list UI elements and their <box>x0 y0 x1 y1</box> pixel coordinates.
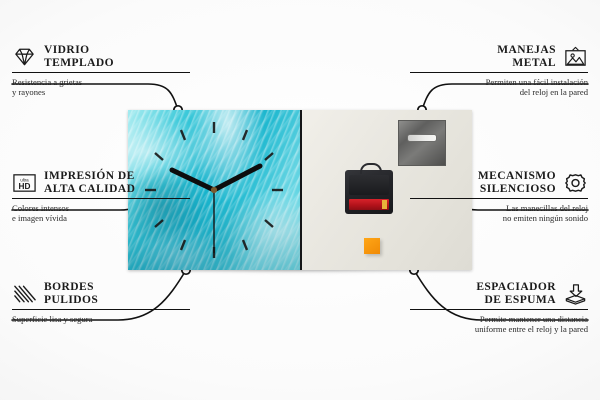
mechanism-hook <box>360 163 382 174</box>
feature-espaciador-espuma: ESPACIADOR DE ESPUMA Permite mantener un… <box>410 281 588 335</box>
feature-header: ultra HD IMPRESIÓN DE ALTA CALIDAD <box>12 170 190 195</box>
svg-text:HD: HD <box>19 181 31 190</box>
tick-11 <box>181 130 185 140</box>
tick-5 <box>243 240 247 250</box>
diamond-icon <box>12 46 37 68</box>
foam-spacer <box>364 238 380 254</box>
feature-mecanismo-silencioso: MECANISMO SILENCIOSO Las manecillas del … <box>410 170 588 224</box>
tick-2 <box>265 153 273 160</box>
feature-title: VIDRIO TEMPLADO <box>44 44 114 69</box>
feature-rule <box>410 309 588 310</box>
hanger-slot <box>407 134 437 142</box>
feature-header: VIDRIO TEMPLADO <box>12 44 190 69</box>
feature-description: Superficie lisa y segura <box>12 314 190 324</box>
feature-description: Permiten una fácil instalación del reloj… <box>410 77 588 98</box>
feature-header: BORDES PULIDOS <box>12 281 190 306</box>
feature-header: MECANISMO SILENCIOSO <box>410 170 588 195</box>
ultra-hd-icon: ultra HD <box>12 172 37 194</box>
mechanism-housing <box>349 175 389 195</box>
feature-description: Las manecillas del reloj no emiten ningú… <box>410 203 588 224</box>
arrow-onto-pad-icon <box>563 283 588 305</box>
metal-hanger-plate <box>398 120 446 166</box>
feature-header: ESPACIADOR DE ESPUMA <box>410 281 588 306</box>
feature-rule <box>410 72 588 73</box>
feature-description: Colores intensos e imagen vívida <box>12 203 190 224</box>
feature-title: MANEJAS METAL <box>497 44 556 69</box>
feature-title: MECANISMO SILENCIOSO <box>478 170 556 195</box>
feature-bordes-pulidos: BORDES PULIDOS Superficie lisa y segura <box>12 281 190 324</box>
feature-rule <box>12 72 190 73</box>
clock-center-cap <box>211 187 217 193</box>
feature-header: MANEJAS METAL <box>410 44 588 69</box>
feature-manejas-metal: MANEJAS METAL Permiten una fácil instala… <box>410 44 588 98</box>
feature-vidrio-templado: VIDRIO TEMPLADO Resistencia a grietas y … <box>12 44 190 98</box>
polished-edge-icon <box>12 283 37 305</box>
feature-description: Permite mantener una distancia uniforme … <box>410 314 588 335</box>
feature-title: IMPRESIÓN DE ALTA CALIDAD <box>44 170 135 195</box>
infographic-canvas: VIDRIO TEMPLADO Resistencia a grietas y … <box>0 0 600 400</box>
tick-7 <box>181 240 185 250</box>
tick-4 <box>265 220 273 227</box>
feature-rule <box>12 198 190 199</box>
gear-icon <box>563 172 588 194</box>
feature-title: ESPACIADOR DE ESPUMA <box>476 281 556 306</box>
battery-terminal <box>382 200 387 209</box>
feature-impresion-alta-calidad: ultra HD IMPRESIÓN DE ALTA CALIDAD Color… <box>12 170 190 224</box>
feature-rule <box>410 198 588 199</box>
picture-frame-hook-icon <box>563 46 588 68</box>
feature-title: BORDES PULIDOS <box>44 281 98 306</box>
tick-1 <box>243 130 247 140</box>
clock-mechanism <box>345 170 393 214</box>
feature-description: Resistencia a grietas y rayones <box>12 77 190 98</box>
feature-rule <box>12 309 190 310</box>
tick-10 <box>155 153 163 160</box>
battery <box>349 199 389 210</box>
clock-minute-hand <box>214 166 260 190</box>
